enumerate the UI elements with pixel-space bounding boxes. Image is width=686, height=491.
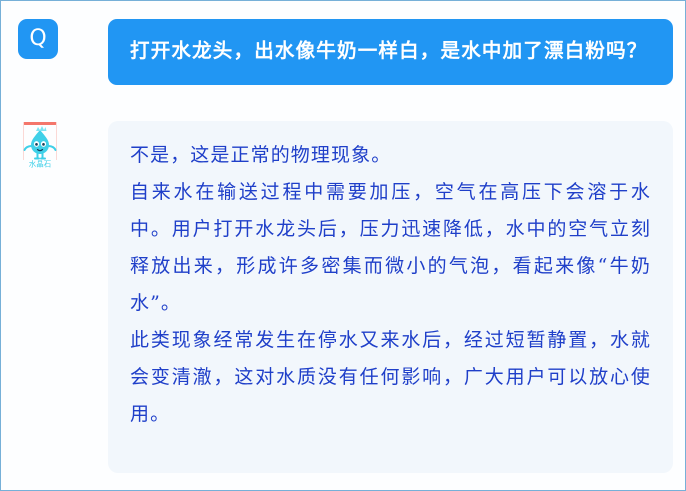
answer-paragraph-3: 此类现象经常发生在停水又来水后，经过短暂静置，水就会变清澈，这对水质没有任何影响… (130, 322, 651, 433)
question-text: 打开水龙头，出水像牛奶一样白，是水中加了漂白粉吗？ (130, 33, 651, 69)
qa-card-page: Q 打开水龙头，出水像牛奶一样白，是水中加了漂白粉吗？ (0, 0, 686, 491)
question-bubble: 打开水龙头，出水像牛奶一样白，是水中加了漂白粉吗？ (108, 19, 673, 85)
question-row: Q 打开水龙头，出水像牛奶一样白，是水中加了漂白粉吗？ (18, 19, 673, 85)
answer-bubble: 不是，这是正常的物理现象。 自来水在输送过程中需要加压，空气在高压下会溶于水中。… (108, 121, 673, 473)
answer-row: 水晶石 不是，这是正常的物理现象。 自来水在输送过程中需要加压，空气在高压下会溶… (18, 121, 673, 473)
water-drop-mascot-icon: 水晶石 (18, 121, 62, 169)
answer-paragraph-1: 不是，这是正常的物理现象。 (130, 137, 651, 174)
mascot-caption-text: 水晶石 (29, 159, 52, 169)
question-badge: Q (18, 19, 58, 59)
answer-paragraph-2: 自来水在输送过程中需要加压，空气在高压下会溶于水中。用户打开水龙头后，压力迅速降… (130, 174, 651, 322)
